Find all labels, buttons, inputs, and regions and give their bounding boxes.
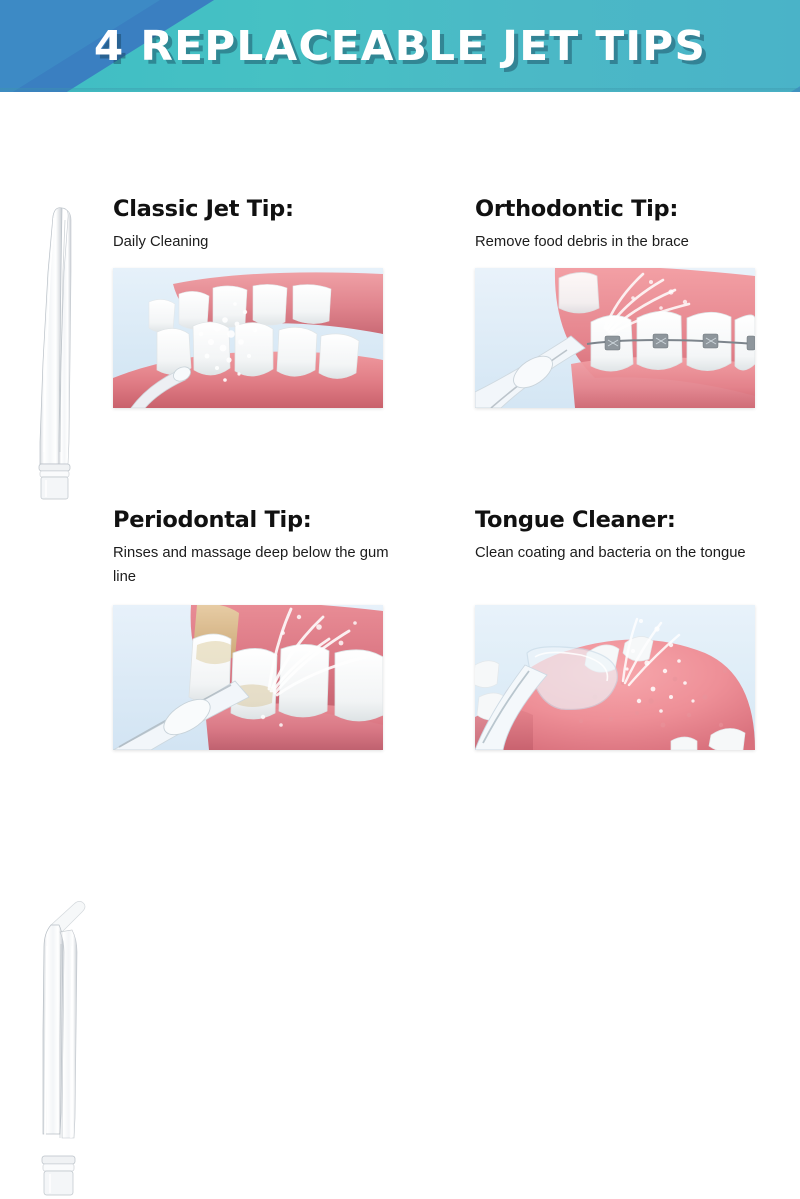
gumline-water-jet-cleaning-photo: [113, 605, 383, 750]
tongue-cleaning-photo: [475, 605, 755, 750]
page-title: 4 REPLACEABLE JET TIPS: [0, 0, 800, 92]
periodontal-tip-nozzle: [30, 898, 100, 1198]
tip-card-periodontal-tip: Periodontal Tip: Rinses and massage deep…: [0, 446, 400, 800]
orthodontic-tip-title: Orthodontic Tip:: [475, 197, 785, 223]
tongue-cleaner-title: Tongue Cleaner:: [475, 508, 785, 534]
teeth-water-jet-cleaning-photo: [113, 268, 383, 408]
periodontal-tip-description: Rinses and massage deep below the gum li…: [113, 542, 398, 590]
tongue-cleaner-description: Clean coating and bacteria on the tongue: [475, 542, 785, 566]
header-banner: 4 REPLACEABLE JET TIPS: [0, 0, 800, 92]
classic-jet-tip-description: Daily Cleaning: [113, 231, 391, 255]
tongue-cleaner-text: Tongue Cleaner: Clean coating and bacter…: [475, 508, 785, 566]
orthodontic-tip-description: Remove food debris in the brace: [475, 231, 785, 255]
braces-water-jet-cleaning-photo: [475, 268, 755, 408]
periodontal-tip-text: Periodontal Tip: Rinses and massage deep…: [113, 508, 398, 590]
orthodontic-tip-text: Orthodontic Tip: Remove food debris in t…: [475, 197, 785, 255]
tip-card-tongue-cleaner: Tongue Cleaner: Clean coating and bacter…: [400, 446, 800, 800]
tip-card-classic-jet-tip: Classic Jet Tip: Daily Cleaning: [0, 92, 400, 446]
periodontal-tip-title: Periodontal Tip:: [113, 508, 398, 534]
classic-jet-tip-text: Classic Jet Tip: Daily Cleaning: [113, 197, 391, 255]
tip-card-orthodontic-tip: Orthodontic Tip: Remove food debris in t…: [400, 92, 800, 446]
classic-jet-tip-title: Classic Jet Tip:: [113, 197, 391, 223]
